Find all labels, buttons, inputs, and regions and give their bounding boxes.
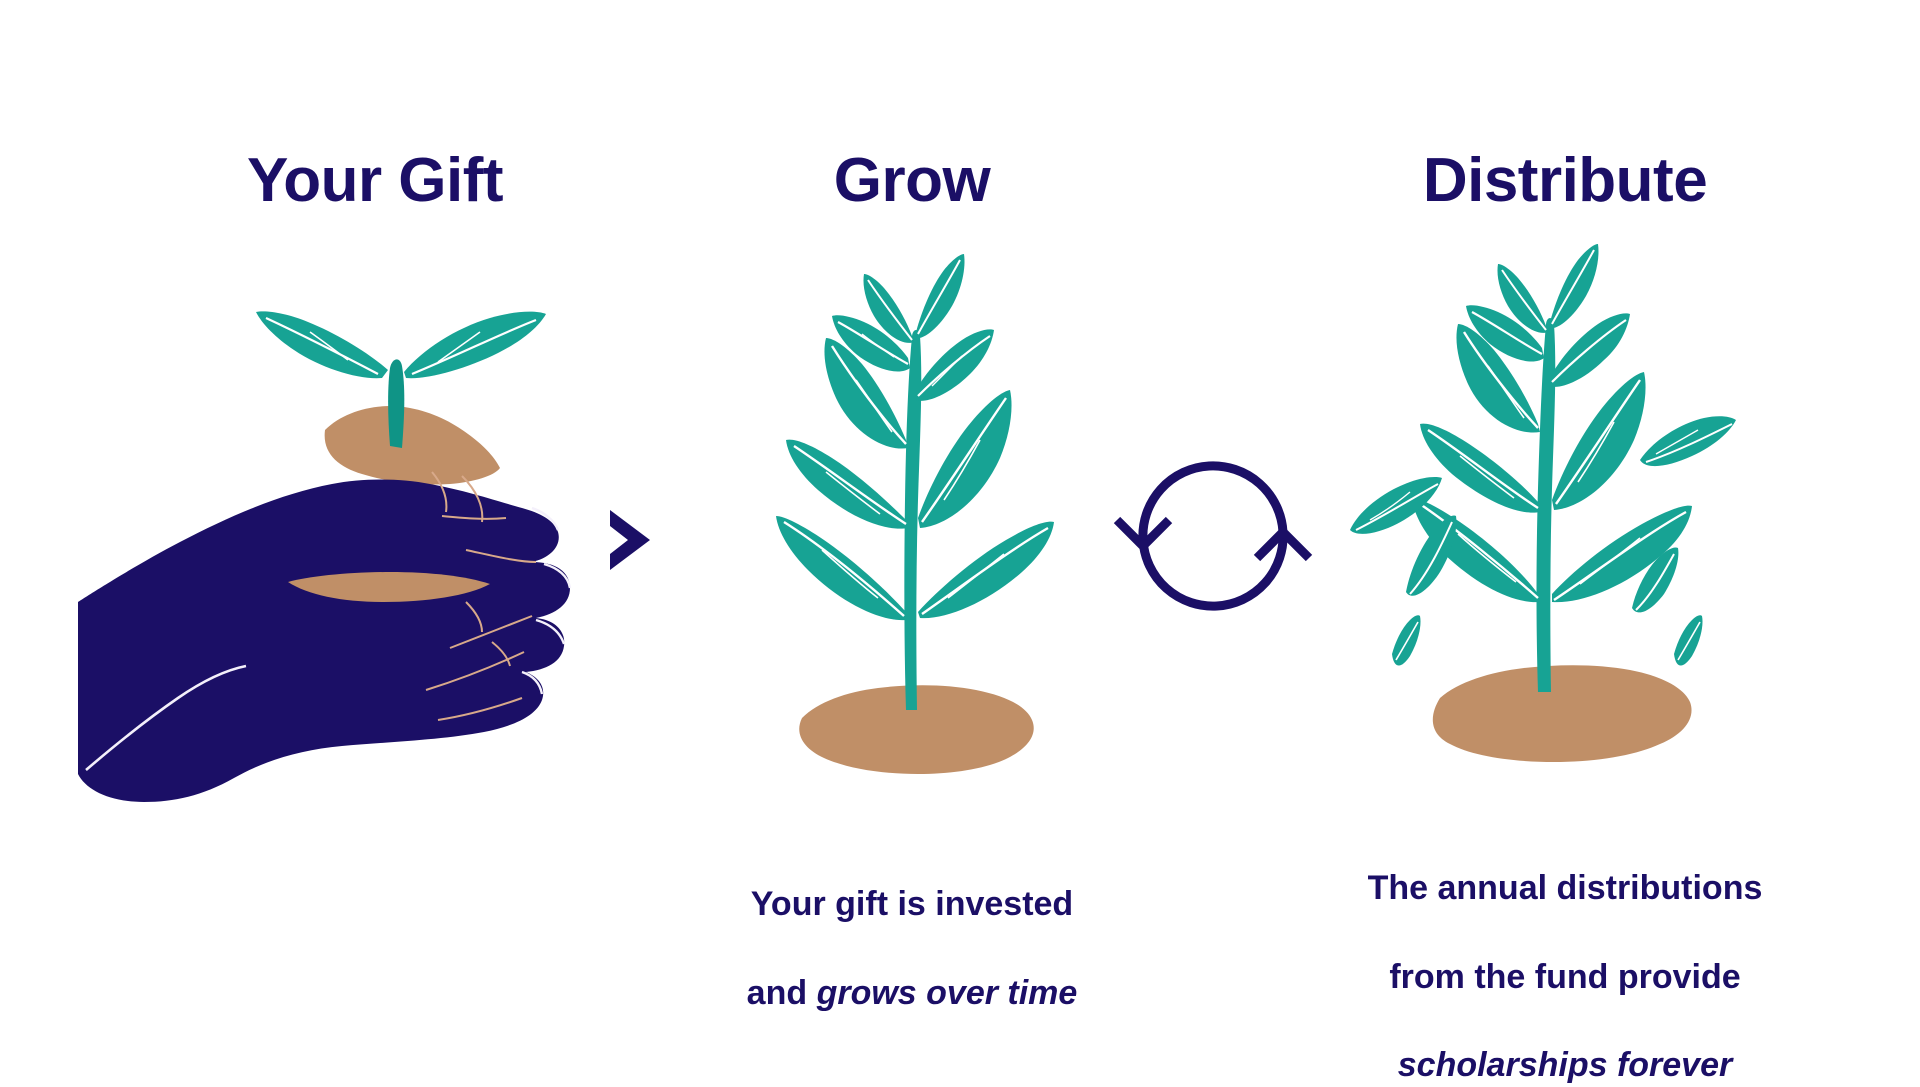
chevron-right-icon	[588, 498, 672, 582]
soil-mound-shape	[1433, 665, 1692, 762]
caption-distribute-line3-italic: scholarships forever	[1398, 1046, 1732, 1084]
caption-grow-line1: Your gift is invested	[751, 885, 1073, 923]
infographic-canvas: Your Gift Grow Distribute	[0, 0, 1920, 1080]
growing-plant-illustration	[760, 240, 1080, 800]
caption-grow: Your gift is invested and grows over tim…	[682, 838, 1142, 1015]
seedling-stem-shape	[388, 359, 404, 448]
falling-leaf-small-right	[1674, 615, 1703, 665]
hand-holding-seedling-illustration	[70, 250, 590, 810]
leaf-vein	[1428, 430, 1538, 508]
caption-distribute-line2: from the fund provide	[1389, 958, 1740, 996]
seedling-leaf-left-vein	[266, 318, 378, 374]
falling-leaf-small-left	[1392, 615, 1421, 665]
soil-mound-shape	[325, 406, 500, 484]
page-title-grow: Grow	[834, 150, 990, 212]
caption-distribute: The annual distributions from the fund p…	[1285, 822, 1845, 1087]
plant-leaf-left-1	[776, 516, 906, 620]
plant-shedding-leaves-illustration	[1340, 230, 1760, 810]
caption-grow-line2-italic: grows over time	[817, 974, 1078, 1012]
caption-distribute-line1: The annual distributions	[1368, 869, 1763, 907]
caption-grow-line2-plain: and	[747, 974, 817, 1012]
page-title-your-gift: Your Gift	[247, 150, 503, 212]
refresh-cycle-icon	[1105, 440, 1320, 625]
page-title-distribute: Distribute	[1423, 150, 1707, 212]
hand-silhouette-shape	[78, 480, 570, 803]
